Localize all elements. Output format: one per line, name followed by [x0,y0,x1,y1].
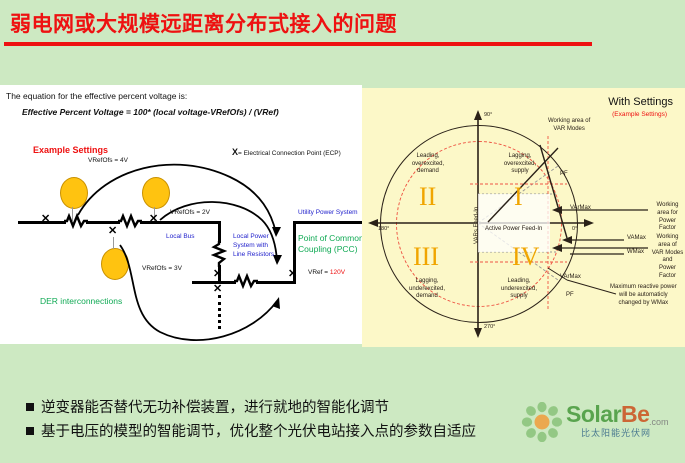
label-local-power-system: Local Power System with Line Resistors [233,233,274,259]
title-divider [4,42,592,46]
label-vref-120v: VRef = 120V [308,269,345,276]
label-der-interconnections: DER interconnections [40,296,122,306]
label-utility-power-system: Utility Power System [298,209,358,216]
label-vrefofs-4v: VRefOfs = 4V [88,157,128,164]
watermark-brand-part2: Be [621,401,649,427]
lps-line1: Local Power [233,233,274,242]
annotation-working-area-pf: Working area for Power Factor [650,202,685,233]
annotation-wmax: WMax [627,249,644,257]
vref-value: 120V [330,269,345,276]
polar-axes-and-annotations [362,88,685,347]
annotation-varmax-right: VArMax [570,205,591,213]
quadrant-text-4: Leading, underexcited, supply [490,278,548,301]
q2-line2: overexcited, [400,161,456,169]
watermark-chinese: 比太阳能光伏网 [581,426,651,439]
solarbe-watermark: SolarBe .com 比太阳能光伏网 [521,398,681,448]
pcc-line1: Point of Common [298,233,362,244]
bullet-item-2: 基于电压的模型的智能调节，优化整个光伏电站接入点的参数自适应 [26,420,476,441]
degree-label-180: 180° [378,226,389,232]
maxreact-line3: changed by WMax [610,300,677,308]
label-local-bus: Local Bus [166,233,195,240]
degree-label-270: 270° [484,324,495,330]
vrefofs-3v-text: VRefOfs = 3V [142,265,182,272]
q1-line1: Lagging, [492,153,548,161]
q3-line1: Lagging, [398,278,456,286]
label-vrefofs-3v: VRefOfs = 3V [142,265,182,272]
bullet-square-icon-1 [26,403,34,411]
slide-root: 弱电网或大规模远距离分布式接入的问题 The equation for the … [0,0,685,463]
maxreact-line1: Maximum reactive power [610,284,677,292]
x-axis-label: Active Power Feed-In [485,226,542,234]
lps-line2: System with [233,242,274,251]
watermark-brand-part1: Solar [566,401,621,427]
degree-label-0: 0° [572,226,577,232]
bullet-item-1: 逆变器能否替代无功补偿装置，进行就地的智能化调节 [26,396,476,417]
watermark-tld: .com [649,417,669,427]
maxreact-line2: will be automaticly [610,292,677,300]
lps-line3: Line Resistors [233,251,274,260]
quadrant-text-3: Lagging, underexcited, demand [398,278,456,301]
war-pf-line1: Working area for [650,202,685,218]
bullet-list: 逆变器能否替代无功补偿装置，进行就地的智能化调节 基于电压的模型的智能调节，优化… [26,396,476,444]
annotation-max-reactive: Maximum reactive power will be automatic… [610,284,677,307]
war-var-line2: VAR Modes [548,126,590,134]
quadrant-numeral-3: III [413,244,439,270]
label-vrefofs-2v: VRefOfs = 2V [170,209,210,216]
page-title: 弱电网或大规模远距离分布式接入的问题 [10,8,397,38]
annotation-working-area-both: Working area of VAR Modes and Power Fact… [650,234,685,281]
annotation-varmax-inner: VArMax [560,274,581,282]
right-polar-panel: With Settings (Example Settings) [362,88,685,347]
vref-prefix: VRef = [308,269,330,276]
q3-line2: underexcited, [398,286,456,294]
war-pf-line2: Power Factor [650,218,685,234]
war-both-line2: VAR Modes and [650,250,685,266]
sunflower-logo-icon [521,402,563,442]
q4-line3: supply [490,293,548,301]
left-diagram-panel: The equation for the effective percent v… [0,85,362,344]
vrefofs-4v-text: VRefOfs = 4V [88,157,128,164]
quadrant-text-2: Leading, overexcited, demand [400,153,456,176]
label-pcc: Point of Common Coupling (PCC) [298,233,362,255]
annotation-vamax: VAMax [627,235,646,243]
q2-line1: Leading, [400,153,456,161]
annotation-pf-upper: PF [560,171,568,179]
bullet-text-1: 逆变器能否替代无功补偿装置，进行就地的智能化调节 [41,396,389,417]
q1-line3: supply [492,168,548,176]
degree-label-90: 90° [484,112,492,118]
war-both-line1: Working area of [650,234,685,250]
annotation-working-area-var: Working area of VAR Modes [548,118,590,134]
war-var-line1: Working area of [548,118,590,126]
war-both-line3: Power Factor [650,265,685,281]
q1-line2: overexcited, [492,161,548,169]
y-axis-label: VARs Feed-In [474,207,480,244]
q2-line3: demand [400,168,456,176]
q4-line2: underexcited, [490,286,548,294]
quadrant-numeral-1: I [514,184,523,210]
watermark-brand: SolarBe [566,403,649,426]
bullet-square-icon-2 [26,427,34,435]
quadrant-numeral-4: IV [512,244,539,270]
bullet-text-2: 基于电压的模型的智能调节，优化整个光伏电站接入点的参数自适应 [41,420,476,441]
annotation-pf-lower: PF [566,292,574,300]
q3-line3: demand [398,293,456,301]
vrefofs-2v-text: VRefOfs = 2V [170,209,210,216]
quadrant-numeral-2: II [419,184,436,210]
q4-line1: Leading, [490,278,548,286]
quadrant-text-1: Lagging, overexcited, supply [492,153,548,176]
pcc-line2: Coupling (PCC) [298,244,362,255]
